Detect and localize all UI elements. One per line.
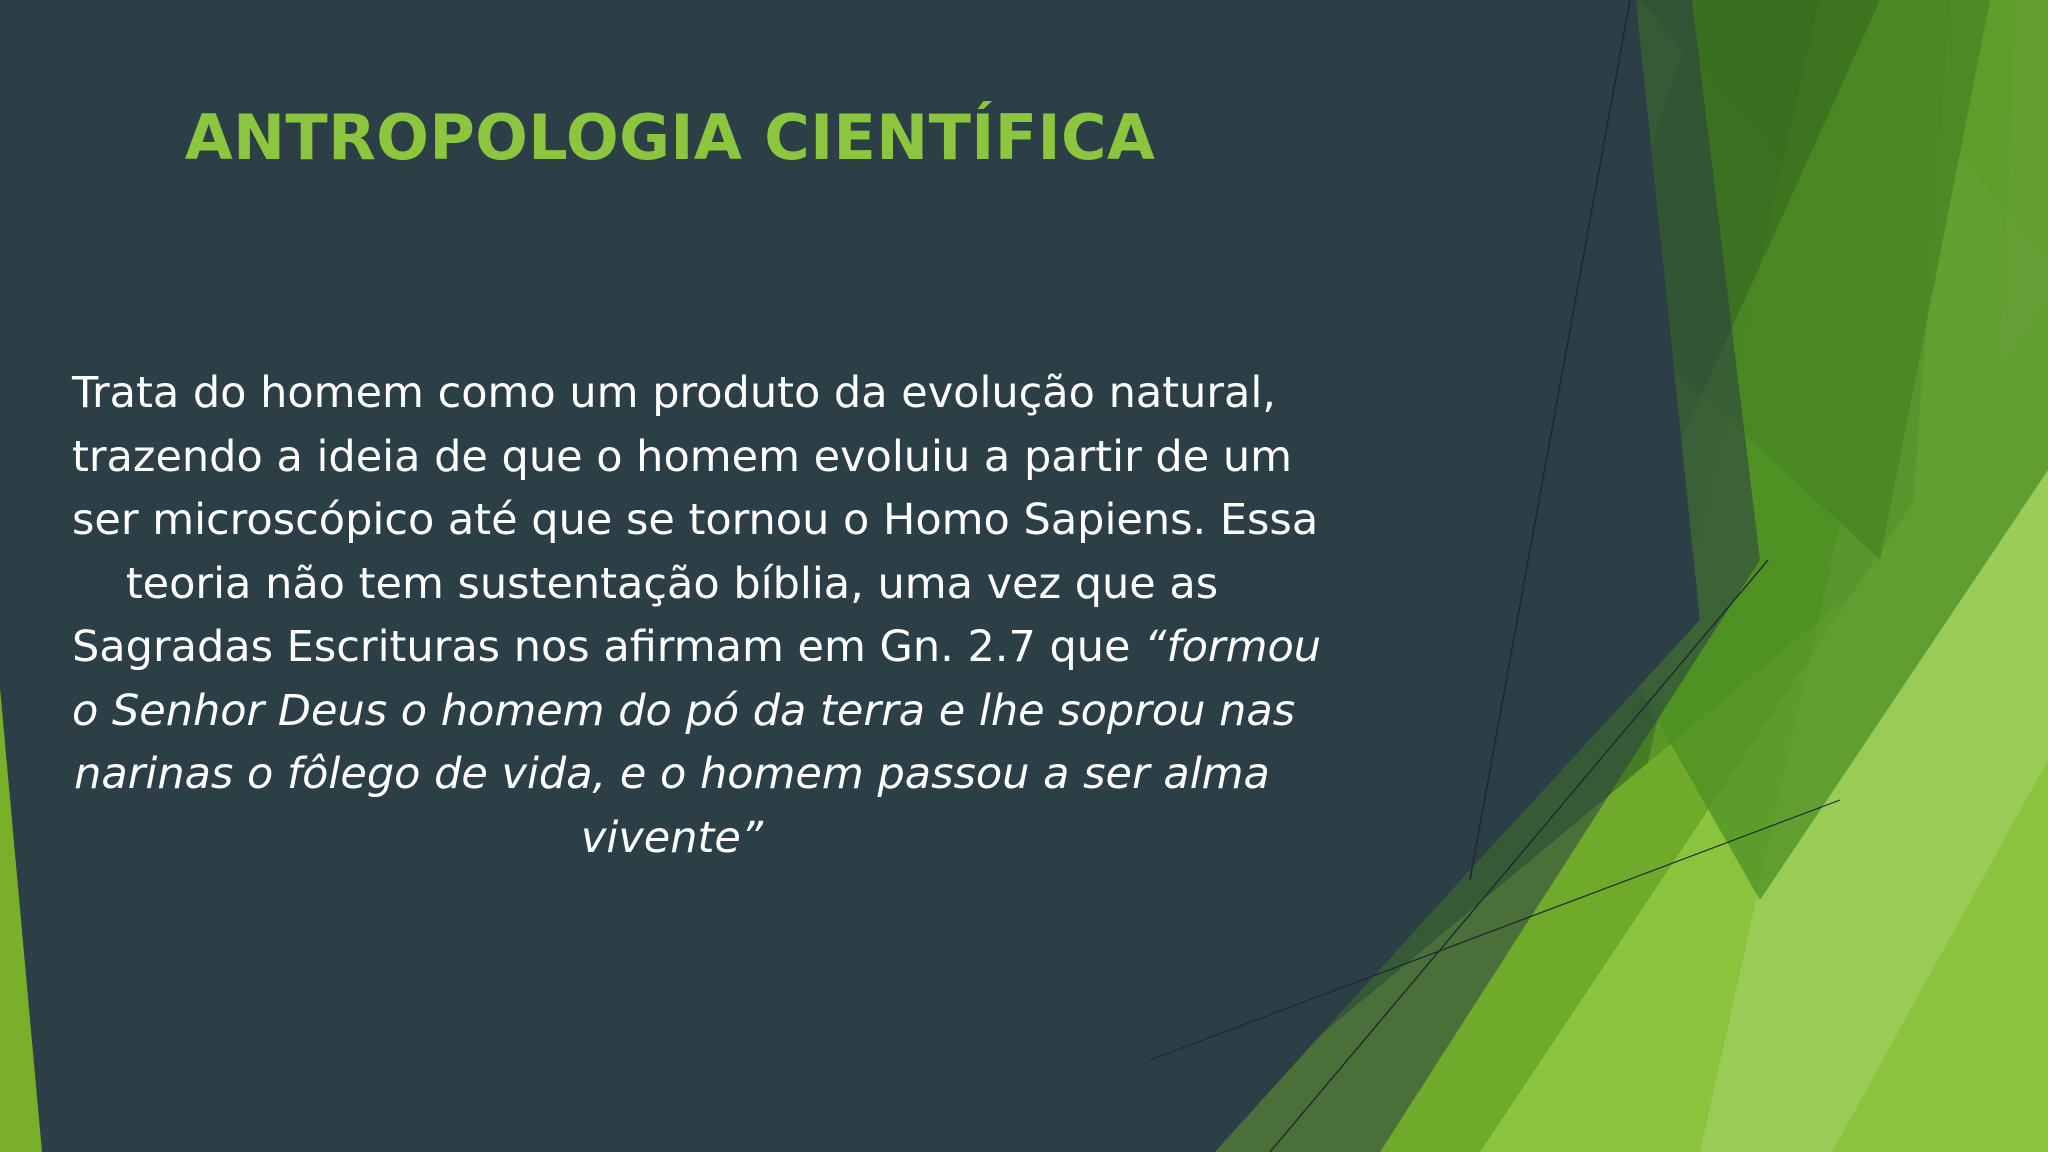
- body-line-quote: vivente”: [72, 807, 1272, 871]
- body-line-mixed: Sagradas Escrituras nos afirmam em Gn. 2…: [72, 616, 1272, 680]
- bottom-left-wedge: [0, 688, 42, 1152]
- body-line-italic-part: “formou: [1144, 622, 1321, 672]
- body-line-quote: narinas o fôlego de vida, e o homem pass…: [72, 743, 1272, 807]
- body-line-quote: o Senhor Deus o homem do pó da terra e l…: [72, 680, 1272, 744]
- facet-dark-slab: [1186, 0, 2048, 1152]
- facet-highlight-wedge: [1700, 120, 2048, 1152]
- facet-upper-dark-triangle: [1600, 0, 1990, 560]
- facet-overlay-sweep: [1186, 0, 2048, 1152]
- presentation-slide: ANTROPOLOGIA CIENTÍFICA Trata do homem c…: [0, 0, 2048, 1152]
- page-title: ANTROPOLOGIA CIENTÍFICA: [0, 104, 1340, 172]
- body-line: ser microscópico até que se tornou o Hom…: [72, 489, 1272, 553]
- hairline-secondary: [1270, 560, 1768, 1152]
- body-line: trazendo a ideia de que o homem evoluiu …: [72, 426, 1272, 490]
- bottom-left-wedge-front: [0, 688, 42, 1152]
- body-placeholder: Trata do homem como um produto da evoluç…: [72, 362, 1272, 870]
- facet-lime-column: [1866, 0, 2048, 1152]
- facet-center-cross-triangle: [1600, 0, 2048, 900]
- facet-lower-lime-triangle: [1480, 300, 2048, 1152]
- body-line: Trata do homem como um produto da evoluç…: [72, 362, 1272, 426]
- title-placeholder: ANTROPOLOGIA CIENTÍFICA: [0, 104, 1340, 172]
- body-line-plain-part: Sagradas Escrituras nos afirmam em Gn. 2…: [72, 622, 1144, 672]
- hairline-primary: [1470, 0, 1630, 880]
- facet-pale-sliver: [1968, 0, 2048, 1152]
- body-line: teoria não tem sustentação bíblia, uma v…: [72, 553, 1272, 617]
- facet-navy-shard: [1215, 0, 1760, 1152]
- facet-mid-column: [1560, 0, 2048, 1152]
